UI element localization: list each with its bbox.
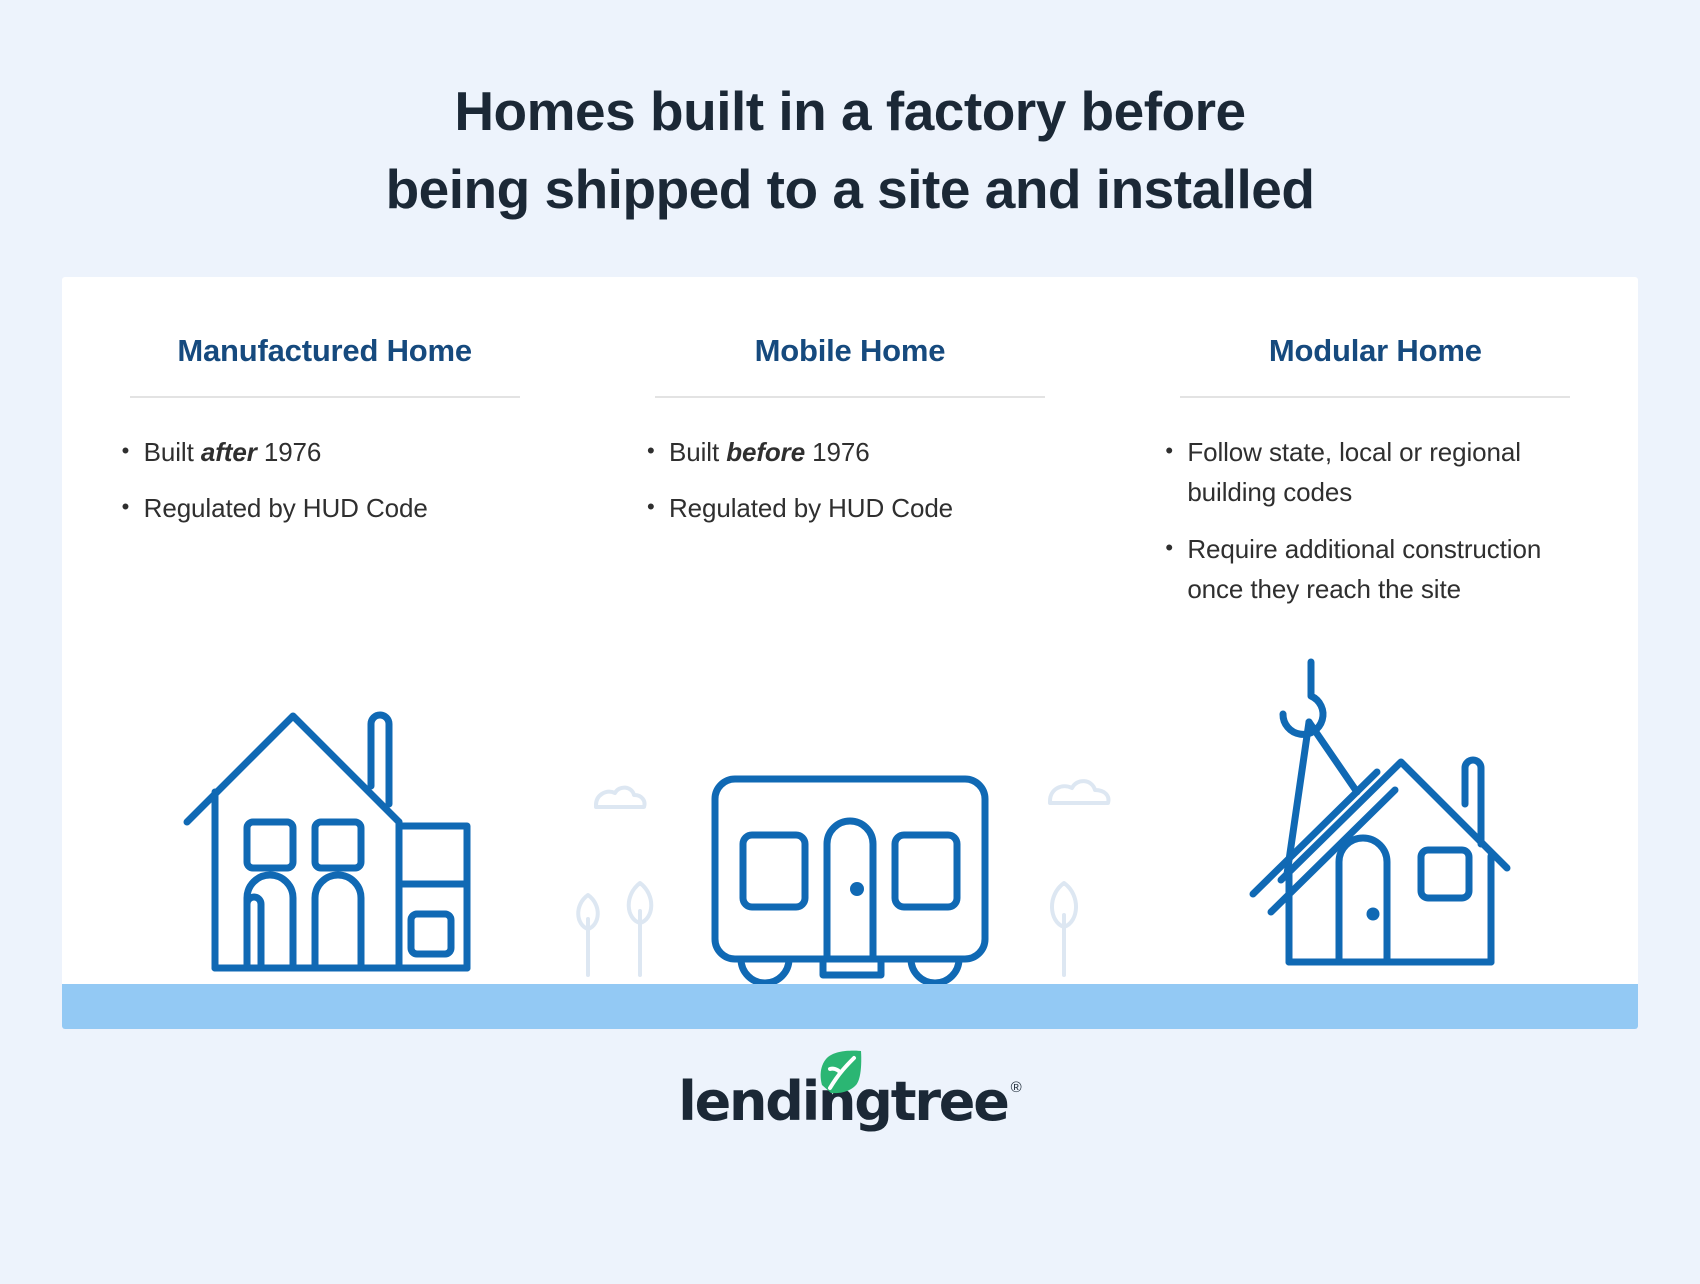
illustration-modular-home [1113, 624, 1638, 984]
bullet-text-before: Regulated by HUD Code [144, 493, 428, 523]
page-title-line-2: being shipped to a site and installed [0, 150, 1700, 228]
column-mobile-home: Mobile Home Built before 1976 Regulated … [587, 277, 1112, 1029]
column-divider [1180, 396, 1570, 398]
bullet-text-before: Built [669, 437, 726, 467]
bullet-text-before: Regulated by HUD Code [669, 493, 953, 523]
column-heading-manufactured: Manufactured Home [110, 332, 540, 369]
bullet-text-before: Follow state, local or regional building… [1187, 437, 1521, 507]
column-heading-mobile: Mobile Home [635, 332, 1065, 369]
bullet-list-modular: Follow state, local or regional building… [1165, 432, 1595, 609]
columns-container: Manufactured Home Built after 1976 Regul… [62, 277, 1638, 1029]
list-item: Built after 1976 [122, 432, 540, 472]
bullet-text-after: 1976 [257, 437, 322, 467]
list-item: Follow state, local or regional building… [1165, 432, 1595, 513]
column-divider [130, 396, 520, 398]
column-manufactured-home: Manufactured Home Built after 1976 Regul… [62, 277, 587, 1029]
bullet-text-before: Built [144, 437, 201, 467]
bullet-text-after: 1976 [805, 437, 870, 467]
list-item: Regulated by HUD Code [122, 488, 540, 528]
bullet-text-emphasis: after [201, 437, 257, 467]
list-item: Built before 1976 [647, 432, 1065, 472]
column-heading-modular: Modular Home [1155, 332, 1595, 369]
infographic-page: Homes built in a factory before being sh… [0, 0, 1700, 1284]
column-divider [655, 396, 1045, 398]
page-title-line-1: Homes built in a factory before [0, 72, 1700, 150]
bullet-text-emphasis: before [726, 437, 805, 467]
bullet-text-before: Require additional construction once the… [1187, 534, 1541, 604]
bullet-list-manufactured: Built after 1976 Regulated by HUD Code [122, 432, 540, 529]
brand-logo: lendingtree ® [0, 1075, 1700, 1129]
list-item: Require additional construction once the… [1165, 529, 1595, 610]
column-modular-home: Modular Home Follow state, local or regi… [1113, 277, 1638, 1029]
illustration-manufactured-home [62, 624, 587, 984]
bullet-list-mobile: Built before 1976 Regulated by HUD Code [647, 432, 1065, 529]
page-title: Homes built in a factory before being sh… [0, 72, 1700, 228]
illustration-mobile-home [587, 624, 1112, 984]
registered-trademark-symbol: ® [1011, 1079, 1022, 1096]
comparison-card: Manufactured Home Built after 1976 Regul… [62, 277, 1638, 1029]
list-item: Regulated by HUD Code [647, 488, 1065, 528]
leaf-icon [817, 1047, 865, 1104]
